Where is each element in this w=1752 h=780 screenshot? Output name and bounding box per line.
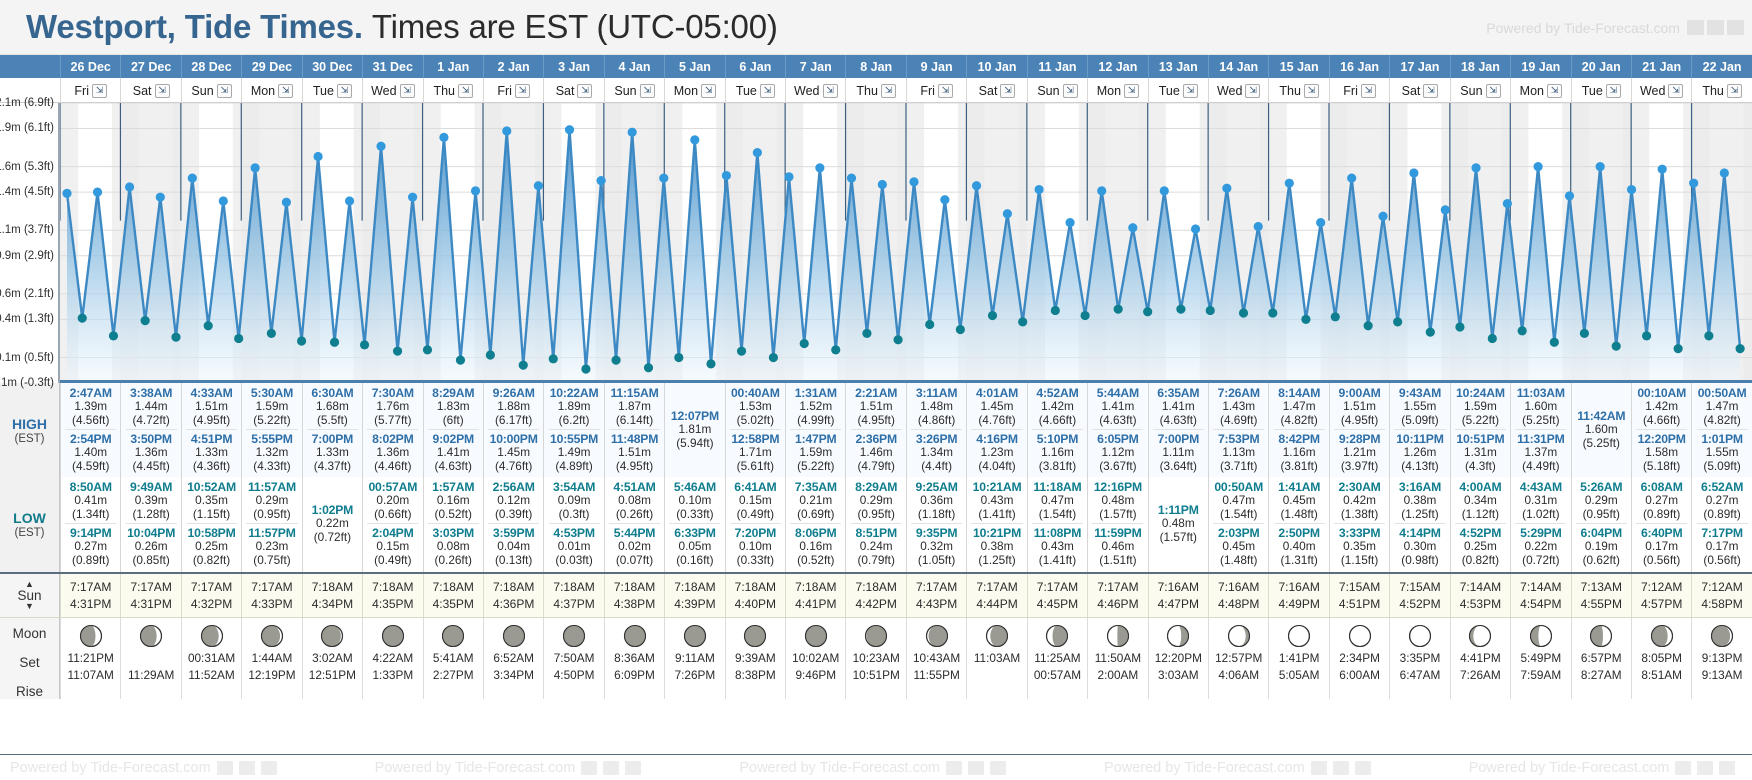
high-tide-point[interactable] (219, 196, 228, 205)
high-tide-point[interactable] (722, 171, 731, 180)
expand-icon[interactable]: ⇲ (1245, 84, 1260, 98)
high-tide-point[interactable] (1378, 212, 1387, 221)
tide-time: 5:30AM (251, 386, 293, 400)
high-tide-point[interactable] (815, 163, 824, 172)
moon-phase (200, 624, 224, 648)
low-tide-entry: 11:18AM0.47m(1.54ft) (1028, 480, 1087, 521)
high-tide-cell: 7:26AM1.43m(4.69ft)7:53PM1.13m(3.71ft) (1208, 383, 1268, 477)
high-tide-point[interactable] (1222, 184, 1231, 193)
expand-icon[interactable]: ⇲ (1361, 84, 1376, 98)
high-tide-point[interactable] (376, 142, 385, 151)
high-tide-point[interactable] (1316, 218, 1325, 227)
high-tide-point[interactable] (1128, 223, 1137, 232)
high-tide-point[interactable] (784, 172, 793, 181)
low-tide-point[interactable] (956, 325, 965, 334)
moon-cell: 5:41AM2:27PM (423, 618, 483, 699)
low-tide-point[interactable] (644, 363, 653, 372)
tide-time: 11:42AM (1577, 409, 1625, 423)
moon-phase (1710, 624, 1734, 648)
low-tide-point[interactable] (423, 345, 432, 354)
high-tide-point[interactable] (93, 187, 102, 196)
moon-cell: 5:49PM7:59AM (1510, 618, 1570, 699)
high-tide-point[interactable] (502, 126, 511, 135)
moon-cell: 4:22AM1:33PM (362, 618, 422, 699)
low-tide-point[interactable] (1612, 341, 1621, 350)
low-tide-point[interactable] (1426, 327, 1435, 336)
expand-icon[interactable]: ⇲ (337, 84, 352, 98)
low-tide-point[interactable] (204, 321, 213, 330)
moon-phase-icon (1408, 624, 1432, 648)
moonset-time: 8:36AM (614, 651, 655, 665)
expand-icon[interactable]: ⇲ (938, 84, 953, 98)
high-tide-point[interactable] (565, 125, 574, 134)
moon-phase (985, 624, 1009, 648)
tide-height-m: 1.32m (256, 446, 289, 460)
tide-entry-divider (367, 523, 418, 524)
weekday-header-fri-7: Fri⇲ (483, 78, 543, 103)
high-tide-entry: 9:00AM1.51m(4.95ft) (1330, 386, 1389, 427)
high-tide-entry: 3:50PM1.36m(4.45ft) (121, 432, 180, 473)
low-tide-point[interactable] (1051, 306, 1060, 315)
low-tide-point[interactable] (297, 336, 306, 345)
low-tide-entry: 4:14PM0.30m(0.98ft) (1390, 526, 1449, 567)
high-tide-point[interactable] (1347, 173, 1356, 182)
tide-entry-divider (488, 523, 539, 524)
expand-icon[interactable]: ⇲ (400, 84, 415, 98)
y-axis-tick-0: 2.1m (6.9ft) (0, 97, 54, 109)
high-tide-point[interactable] (940, 195, 949, 204)
sunset-time: 4:33PM (251, 597, 292, 611)
high-tide-point[interactable] (1160, 186, 1169, 195)
low-tide-point[interactable] (706, 359, 715, 368)
tide-entry-divider (1213, 429, 1264, 430)
weekday-header-mon-3: Mon⇲ (241, 78, 301, 103)
low-tide-point[interactable] (1176, 305, 1185, 314)
tide-height-m: 1.26m (1404, 446, 1437, 460)
high-tide-point[interactable] (1097, 186, 1106, 195)
high-tide-entry: 3:38AM1.44m(4.72ft) (121, 386, 180, 427)
moon-phase (320, 624, 344, 648)
low-tide-point[interactable] (893, 335, 902, 344)
tide-height-ft: (1.54ft) (1220, 508, 1257, 522)
moonrise-time: 12:19PM (248, 668, 295, 682)
expand-icon[interactable]: ⇲ (1423, 84, 1438, 98)
high-tide-cell: 1:31AM1.52m(4.99ft)1:47PM1.59m(5.22ft) (785, 383, 845, 477)
high-tide-point[interactable] (847, 173, 856, 182)
tide-time: 9:43AM (1399, 386, 1441, 400)
sunrise-time: 7:18AM (372, 580, 413, 594)
high-tide-point[interactable] (659, 173, 668, 182)
high-tide-point[interactable] (251, 163, 260, 172)
low-tide-point[interactable] (800, 339, 809, 348)
high-tide-point[interactable] (62, 189, 71, 198)
tide-entry-divider (1394, 523, 1445, 524)
weekday-label: Tue (1159, 84, 1180, 98)
tide-height-m: 1.43m (1222, 400, 1255, 414)
tide-time: 9:28PM (1339, 432, 1380, 446)
high-tide-point[interactable] (690, 135, 699, 144)
high-tide-point[interactable] (972, 181, 981, 190)
sunset-time: 4:36PM (493, 597, 534, 611)
low-tide-point[interactable] (1704, 331, 1713, 340)
low-tide-entry: 00:57AM0.20m(0.66ft) (363, 480, 422, 521)
sunrise-time: 7:17AM (70, 580, 111, 594)
high-tide-point[interactable] (1003, 209, 1012, 218)
tide-height-ft: (5.5ft) (317, 414, 348, 428)
low-tide-point[interactable] (925, 320, 934, 329)
high-tide-point[interactable] (1441, 205, 1450, 214)
low-tide-entry: 4:43AM0.31m(1.02ft) (1511, 480, 1570, 521)
tide-time: 10:11PM (1396, 432, 1443, 446)
high-tide-point[interactable] (1285, 179, 1294, 188)
high-tide-point[interactable] (1565, 191, 1574, 200)
tide-time: 5:44PM (614, 526, 655, 540)
expand-icon[interactable]: ⇲ (1486, 84, 1501, 98)
expand-icon[interactable]: ⇲ (515, 84, 530, 98)
tide-height-m: 1.34m (920, 446, 953, 460)
low-tide-point[interactable] (1736, 344, 1745, 353)
tide-time: 5:46AM (674, 480, 716, 494)
tide-entry-divider (851, 429, 902, 430)
sunset-time: 4:53PM (1460, 597, 1501, 611)
high-tide-point[interactable] (1471, 163, 1480, 172)
high-tide-point[interactable] (1627, 185, 1636, 194)
weekday-header-sun-16: Sun⇲ (1027, 78, 1087, 103)
low-tide-point[interactable] (360, 340, 369, 349)
high-tide-point[interactable] (1534, 162, 1543, 171)
low-tide-point[interactable] (862, 329, 871, 338)
tide-height-m: 1.55m (1706, 446, 1739, 460)
low-tide-point[interactable] (171, 333, 180, 342)
weekday-label: Mon (1520, 84, 1544, 98)
high-tide-row: HIGH (EST) 2:47AM1.39m(4.56ft)2:54PM1.40… (0, 383, 1752, 477)
low-tide-point[interactable] (1331, 312, 1340, 321)
low-tide-point[interactable] (1550, 338, 1559, 347)
sunset-time: 4:58PM (1701, 597, 1742, 611)
low-tide-point[interactable] (581, 364, 590, 373)
low-tide-entry: 1:11PM0.48m(1.57ft) (1149, 503, 1208, 544)
tide-time: 10:00PM (490, 432, 538, 446)
weekday-label: Tue (313, 84, 334, 98)
tide-height-ft: (4.63ft) (1099, 414, 1136, 428)
moon-cell: 11:21PM11:07AM (60, 618, 120, 699)
footer-watermark-icon (581, 761, 597, 775)
low-tide-point[interactable] (1642, 331, 1651, 340)
moon-phase (1348, 624, 1372, 648)
low-tide-point[interactable] (549, 354, 558, 363)
low-tide-point[interactable] (1580, 329, 1589, 338)
high-tide-point[interactable] (313, 152, 322, 161)
tide-height-ft: (0.52ft) (797, 554, 834, 568)
low-tide-entry: 6:52AM0.27m(0.89ft) (1692, 480, 1751, 521)
low-tide-point[interactable] (1518, 326, 1527, 335)
high-tide-point[interactable] (878, 180, 887, 189)
expand-icon[interactable]: ⇲ (1000, 84, 1015, 98)
high-tide-entry: 1:47PM1.59m(5.22ft) (786, 432, 845, 473)
tide-height-m: 1.48m (920, 400, 953, 414)
expand-icon[interactable]: ⇲ (217, 84, 232, 98)
moon-phase (260, 624, 284, 648)
tide-time: 7:17PM (1701, 526, 1742, 540)
expand-icon[interactable]: ⇲ (823, 84, 838, 98)
low-tide-cell: 12:16PM0.48m(1.57ft)11:59PM0.46m(1.51ft) (1087, 477, 1147, 571)
low-tide-point[interactable] (1268, 308, 1277, 317)
expand-icon[interactable]: ⇲ (881, 84, 896, 98)
tide-time: 12:20PM (1638, 432, 1686, 446)
sun-cell: 7:17AM4:46PM (1087, 574, 1147, 617)
moonrise-time: 3:03AM (1158, 668, 1199, 682)
low-tide-entry: 5:29PM0.22m(0.72ft) (1511, 526, 1570, 567)
moon-cell: 9:13PM9:13AM (1691, 618, 1751, 699)
high-tide-point[interactable] (125, 182, 134, 191)
sunrise-time: 7:13AM (1581, 580, 1622, 594)
high-tide-point[interactable] (156, 193, 165, 202)
sunset-time: 4:55PM (1581, 597, 1622, 611)
high-tide-point[interactable] (1689, 179, 1698, 188)
tide-height-m: 0.41m (74, 494, 107, 508)
tide-entry-divider (428, 523, 479, 524)
moonset-time: 11:21PM (68, 651, 114, 665)
tide-height-ft: (1.41ft) (978, 508, 1015, 522)
tide-height-m: 1.60m (1585, 423, 1618, 437)
weekday-header-wed-19: Wed⇲ (1208, 78, 1268, 103)
low-tide-point[interactable] (769, 353, 778, 362)
tide-height-m: 1.55m (1404, 400, 1437, 414)
tide-height-m: 1.13m (1222, 446, 1255, 460)
low-tide-entry: 5:26AM0.29m(0.95ft) (1572, 480, 1631, 521)
tide-time: 4:14PM (1399, 526, 1440, 540)
low-tide-timezone: (EST) (14, 527, 44, 539)
high-tide-point[interactable] (1065, 218, 1074, 227)
tide-time: 8:29AM (855, 480, 897, 494)
sunset-time: 4:54PM (1520, 597, 1561, 611)
expand-icon[interactable]: ⇲ (1727, 84, 1742, 98)
page-title: Westport, Tide Times. (26, 8, 363, 46)
low-tide-point[interactable] (109, 331, 118, 340)
low-tide-point[interactable] (737, 347, 746, 356)
moonset-time: 9:13PM (1702, 651, 1743, 665)
expand-icon[interactable]: ⇲ (1606, 84, 1621, 98)
tide-time: 3:03PM (433, 526, 474, 540)
weekday-label: Sat (133, 84, 152, 98)
tide-height-m: 0.02m (618, 540, 651, 554)
high-tide-point[interactable] (1503, 199, 1512, 208)
high-tide-point[interactable] (345, 196, 354, 205)
tide-entry-divider (1515, 429, 1566, 430)
weekday-label: Sun (1037, 84, 1059, 98)
tide-time: 5:26AM (1580, 480, 1622, 494)
y-axis-tick-8: 0.1m (0.5ft) (0, 352, 54, 364)
expand-icon[interactable]: ⇲ (1183, 84, 1198, 98)
tide-time: 8:42PM (1278, 432, 1319, 446)
expand-icon[interactable]: ⇲ (701, 84, 716, 98)
date-header-3-jan: 3 Jan (543, 55, 603, 78)
high-tide-point[interactable] (753, 148, 762, 157)
expand-icon[interactable]: ⇲ (278, 84, 293, 98)
high-tide-point[interactable] (1596, 162, 1605, 171)
tide-time: 10:24AM (1456, 386, 1505, 400)
high-tide-point[interactable] (439, 133, 448, 142)
tide-height-ft: (4.86ft) (918, 414, 955, 428)
expand-icon[interactable]: ⇲ (155, 84, 170, 98)
sun-cell: 7:12AM4:58PM (1691, 574, 1751, 617)
tide-time: 6:41AM (734, 480, 776, 494)
tide-time: 8:29AM (432, 386, 474, 400)
expand-icon[interactable]: ⇲ (1124, 84, 1139, 98)
high-tide-point[interactable] (534, 181, 543, 190)
low-tide-point[interactable] (674, 353, 683, 362)
low-tide-point[interactable] (1206, 306, 1215, 315)
high-tide-cell: 6:30AM1.68m(5.5ft)7:00PM1.33m(4.37ft) (302, 383, 362, 477)
low-tide-point[interactable] (1143, 307, 1152, 316)
moonset-time: 11:50AM (1095, 651, 1141, 665)
low-tide-point[interactable] (141, 316, 150, 325)
low-tide-point[interactable] (330, 338, 339, 347)
high-tide-entry: 8:14AM1.47m(4.82ft) (1269, 386, 1328, 427)
tide-time: 7:20PM (735, 526, 776, 540)
tide-entry-divider (730, 429, 781, 430)
low-tide-point[interactable] (78, 313, 87, 322)
tide-height-m: 1.39m (74, 400, 107, 414)
y-axis-tick-3: 1.4m (4.5ft) (0, 186, 54, 198)
tide-height-m: 0.21m (799, 494, 832, 508)
low-tide-point[interactable] (988, 311, 997, 320)
expand-icon[interactable]: ⇲ (1304, 84, 1319, 98)
moon-cell: 00:31AM11:52AM (181, 618, 241, 699)
expand-icon[interactable]: ⇲ (577, 84, 592, 98)
sunrise-time: 7:16AM (1278, 580, 1319, 594)
moonset-time: 9:11AM (675, 651, 715, 665)
tide-height-m: 0.32m (920, 540, 953, 554)
low-tide-point[interactable] (267, 329, 276, 338)
high-tide-point[interactable] (628, 128, 637, 137)
weekday-header-sat-15: Sat⇲ (966, 78, 1026, 103)
footer-watermark-icon (1697, 761, 1713, 775)
low-tide-point[interactable] (519, 361, 528, 370)
tide-height-m: 1.45m (981, 400, 1014, 414)
tide-height-ft: (0.66ft) (374, 508, 411, 522)
sunrise-time: 7:17AM (976, 580, 1017, 594)
high-tide-entry: 11:48PM1.51m(4.95ft) (605, 432, 664, 473)
low-tide-point[interactable] (234, 334, 243, 343)
low-tide-point[interactable] (1239, 308, 1248, 317)
tide-entry-divider (911, 429, 962, 430)
expand-icon[interactable]: ⇲ (1063, 84, 1078, 98)
sun-cell: 7:16AM4:47PM (1148, 574, 1208, 617)
high-tide-entry: 9:43AM1.55m(5.09ft) (1390, 386, 1449, 427)
low-tide-point[interactable] (486, 350, 495, 359)
tide-height-m: 0.05m (679, 540, 712, 554)
tide-height-ft: (3.67ft) (1099, 460, 1136, 474)
high-tide-point[interactable] (597, 176, 606, 185)
high-tide-point[interactable] (1035, 185, 1044, 194)
low-tide-point[interactable] (611, 355, 620, 364)
low-tide-point[interactable] (393, 347, 402, 356)
moonset-time: 1:44AM (252, 651, 293, 665)
low-tide-entry: 2:56AM0.12m(0.39ft) (484, 480, 543, 521)
sunset-time: 4:34PM (312, 597, 353, 611)
high-tide-point[interactable] (1191, 224, 1200, 233)
expand-icon[interactable]: ⇲ (760, 84, 775, 98)
expand-icon[interactable]: ⇲ (640, 84, 655, 98)
expand-icon[interactable]: ⇲ (1668, 84, 1683, 98)
low-tide-point[interactable] (1674, 344, 1683, 353)
tide-height-ft: (1.18ft) (918, 508, 955, 522)
tide-time: 10:21PM (973, 526, 1021, 540)
tide-height-ft: (1.54ft) (1039, 508, 1076, 522)
tide-height-m: 0.04m (497, 540, 530, 554)
low-tide-point[interactable] (1455, 322, 1464, 331)
low-tide-point[interactable] (1364, 321, 1373, 330)
low-tide-point[interactable] (1081, 311, 1090, 320)
high-tide-point[interactable] (1409, 168, 1418, 177)
sunrise-time: 7:17AM (251, 580, 292, 594)
low-tide-entry: 9:49AM0.39m(1.28ft) (121, 480, 180, 521)
low-tide-cell: 2:56AM0.12m(0.39ft)3:59PM0.04m(0.13ft) (483, 477, 543, 571)
tide-chart-plot[interactable] (60, 103, 1752, 383)
high-tide-point[interactable] (188, 173, 197, 182)
low-tide-point[interactable] (1018, 317, 1027, 326)
tide-height-m: 1.42m (1645, 400, 1678, 414)
moon-cell: 1:41PM5:05AM (1268, 618, 1328, 699)
tide-height-ft: (0.26ft) (435, 554, 472, 568)
watermark-icon-2 (1707, 20, 1724, 35)
tide-height-m: 1.23m (981, 446, 1014, 460)
expand-icon[interactable]: ⇲ (92, 84, 107, 98)
sun-cell: 7:18AM4:41PM (785, 574, 845, 617)
high-tide-point[interactable] (909, 177, 918, 186)
tide-entry-divider (1636, 523, 1687, 524)
expand-icon[interactable]: ⇲ (1547, 84, 1562, 98)
high-tide-point[interactable] (408, 193, 417, 202)
weekday-header-wed-12: Wed⇲ (785, 78, 845, 103)
low-tide-point[interactable] (456, 355, 465, 364)
tide-height-m: 1.41m (437, 446, 470, 460)
moon-cell: 4:41PM7:26AM (1450, 618, 1510, 699)
tide-entry-divider (65, 429, 116, 430)
tide-time: 4:53PM (553, 526, 594, 540)
tide-time: 11:59PM (1094, 526, 1141, 540)
high-tide-point[interactable] (471, 186, 480, 195)
high-tide-point[interactable] (282, 198, 291, 207)
high-tide-point[interactable] (1658, 165, 1667, 174)
low-tide-point[interactable] (1114, 305, 1123, 314)
tide-height-m: 1.45m (497, 446, 530, 460)
low-tide-point[interactable] (1488, 334, 1497, 343)
high-tide-point[interactable] (1720, 168, 1729, 177)
high-tide-cell: 9:00AM1.51m(4.95ft)9:28PM1.21m(3.97ft) (1329, 383, 1389, 477)
weekday-header-sun-9: Sun⇲ (604, 78, 664, 103)
low-tide-point[interactable] (1301, 315, 1310, 324)
low-tide-point[interactable] (1393, 317, 1402, 326)
high-tide-entry: 11:15AM1.87m(6.14ft) (605, 386, 664, 427)
moonrise-time: 11:52AM (188, 668, 234, 682)
tide-height-m: 0.47m (1041, 494, 1074, 508)
low-tide-point[interactable] (831, 345, 840, 354)
expand-icon[interactable]: ⇲ (458, 84, 473, 98)
tide-entry-divider (1274, 523, 1325, 524)
tide-height-m: 0.17m (1706, 540, 1739, 554)
high-tide-point[interactable] (1254, 222, 1263, 231)
moonrise-time: 2:00AM (1098, 668, 1139, 682)
tide-time: 3:38AM (130, 386, 172, 400)
tide-height-ft: (4.69ft) (1220, 414, 1257, 428)
high-tide-entry: 10:51PM1.31m(4.3ft) (1451, 432, 1510, 473)
tide-entry-divider (609, 523, 660, 524)
tide-height-ft: (4.37ft) (314, 460, 351, 474)
tide-height-ft: (5.22ft) (253, 414, 290, 428)
sun-row: ▲ Sun ▼ 7:17AM4:31PM7:17AM4:31PM7:17AM4:… (0, 574, 1752, 618)
